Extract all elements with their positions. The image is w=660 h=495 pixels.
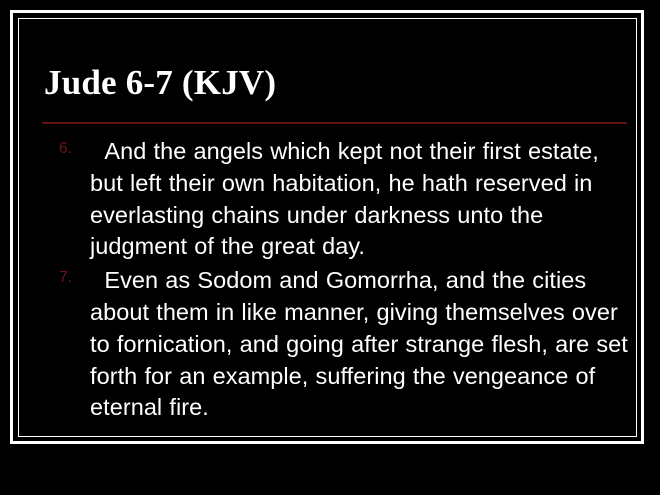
- verse-number: 7.: [59, 268, 85, 288]
- verse-text: Even as Sodom and Gomorrha, and the citi…: [90, 265, 634, 424]
- slide-content: Jude 6-7 (KJV) 6. And the angels which k…: [20, 19, 636, 436]
- verse-text: And the angels which kept not their firs…: [90, 136, 634, 263]
- title-underline-rule: [42, 122, 627, 124]
- slide-title: Jude 6-7 (KJV): [44, 63, 276, 103]
- verse-item: 6. And the angels which kept not their f…: [37, 136, 634, 263]
- slide: Jude 6-7 (KJV) 6. And the angels which k…: [0, 0, 660, 495]
- verse-item: 7. Even as Sodom and Gomorrha, and the c…: [37, 265, 634, 424]
- verse-number: 6.: [59, 139, 85, 159]
- verse-list: 6. And the angels which kept not their f…: [37, 136, 634, 426]
